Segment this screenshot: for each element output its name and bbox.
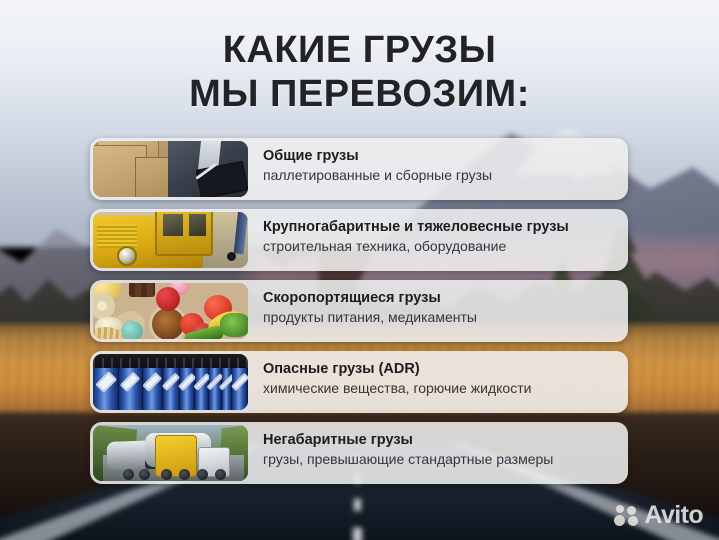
- avito-wordmark: Avito: [644, 503, 703, 528]
- road-dash-3: [354, 499, 361, 511]
- card-title: Опасные грузы (ADR): [263, 360, 618, 378]
- cargo-thumbnail-general: [93, 141, 248, 197]
- list-item[interactable]: Скоропортящиеся грузы продукты питания, …: [90, 280, 628, 342]
- page-title: КАКИЕ ГРУЗЫ МЫ ПЕРЕВОЗИМ:: [0, 28, 719, 117]
- card-subtitle: паллетированные и сборные грузы: [263, 166, 618, 184]
- card-text: Крупногабаритные и тяжеловесные грузы ст…: [251, 209, 628, 271]
- card-text: Опасные грузы (ADR) химические вещества,…: [251, 351, 628, 413]
- card-subtitle: химические вещества, горючие жидкости: [263, 379, 618, 397]
- list-item[interactable]: Крупногабаритные и тяжеловесные грузы ст…: [90, 209, 628, 271]
- list-item[interactable]: Общие грузы паллетированные и сборные гр…: [90, 138, 628, 200]
- cargo-thumbnail-non-standard: [93, 425, 248, 481]
- list-item[interactable]: Негабаритные грузы грузы, превышающие ст…: [90, 422, 628, 484]
- cargo-thumbnail-dangerous-adr: [93, 354, 248, 410]
- cargo-thumbnail-oversized-heavy: [93, 212, 248, 268]
- card-title: Негабаритные грузы: [263, 431, 618, 449]
- card-subtitle: грузы, превышающие стандартные размеры: [263, 450, 618, 468]
- promo-banner: КАКИЕ ГРУЗЫ МЫ ПЕРЕВОЗИМ: Общие грузы па…: [0, 0, 719, 540]
- card-title: Крупногабаритные и тяжеловесные грузы: [263, 218, 618, 236]
- card-subtitle: строительная техника, оборудование: [263, 237, 618, 255]
- cargo-thumbnail-perishable: [93, 283, 248, 339]
- card-text: Негабаритные грузы грузы, превышающие ст…: [251, 422, 628, 484]
- card-title: Общие грузы: [263, 147, 618, 165]
- list-item[interactable]: Опасные грузы (ADR) химические вещества,…: [90, 351, 628, 413]
- road-dash-4: [353, 528, 362, 540]
- avito-watermark: Avito: [614, 503, 703, 528]
- card-title: Скоропортящиеся грузы: [263, 289, 618, 307]
- cargo-type-list: Общие грузы паллетированные и сборные гр…: [90, 138, 628, 484]
- avito-logo-icon: [614, 504, 639, 527]
- card-subtitle: продукты питания, медикаменты: [263, 308, 618, 326]
- card-text: Общие грузы паллетированные и сборные гр…: [251, 138, 628, 200]
- card-text: Скоропортящиеся грузы продукты питания, …: [251, 280, 628, 342]
